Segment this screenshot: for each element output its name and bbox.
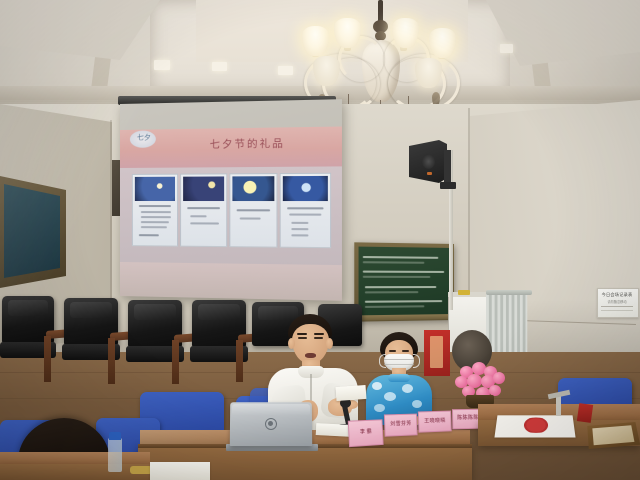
radiator-top-rail <box>486 290 532 295</box>
woman-qipao-collar <box>388 374 410 382</box>
wall-sign-title: 今日会场记录表 <box>600 292 634 298</box>
slide-card-3 <box>229 173 277 248</box>
woman-mask-loop-left <box>379 354 386 368</box>
blackboard <box>354 242 454 321</box>
wall-sign-subtitle: 请勿随意移动 <box>602 299 632 304</box>
slide-card-4 <box>280 173 331 248</box>
blackboard-surface <box>359 247 451 318</box>
speaker-mouth <box>305 353 316 358</box>
speaker-ear-right <box>326 338 333 349</box>
speaker-brow-right <box>314 333 324 335</box>
woman-mask-pleat <box>384 359 414 360</box>
speaker-cone-icon <box>422 154 435 169</box>
flower-arrangement <box>452 362 508 406</box>
name-placard-1-label: 李 霸 <box>360 430 372 436</box>
blackboard-chalk-tray <box>356 314 452 321</box>
black-chair-2-headrest <box>70 302 112 318</box>
recessed-light-2 <box>212 62 227 71</box>
whiteboard-magnet-clip <box>458 290 470 295</box>
recessed-light-1 <box>154 60 170 70</box>
qipao-floral-3 <box>402 384 413 393</box>
qipao-floral-4 <box>412 400 422 408</box>
slide-card-3-image <box>232 176 274 201</box>
laptop-logo-dot <box>268 421 273 426</box>
speaker-eye-right <box>314 337 323 339</box>
paper-sheet-1[interactable] <box>336 385 367 401</box>
name-placard-3-label: 王晓晓晓 <box>424 419 446 425</box>
speaker-mount-arm <box>444 150 451 186</box>
speaker-eye-left <box>298 337 307 339</box>
small-gold-object[interactable] <box>130 466 152 474</box>
slide-card-4-image <box>283 176 328 201</box>
qipao-floral-1 <box>372 382 382 390</box>
water-bottle[interactable] <box>108 438 122 472</box>
qipao-floral-2 <box>384 392 396 401</box>
red-envelope[interactable] <box>577 403 593 423</box>
name-placard-3[interactable]: 王晓晓晓 <box>418 411 452 433</box>
speaker-brow-left <box>297 333 307 335</box>
left-table-front <box>0 464 150 480</box>
photograph-scene: 七夕 七夕节的礼品 <box>0 0 640 480</box>
woman-eye-right <box>402 350 409 352</box>
name-placard-2[interactable]: 刘雪芬芳 <box>384 414 418 437</box>
laptop-lid-highlight <box>232 404 310 416</box>
woman-eye-left <box>389 350 396 352</box>
black-chair-3-headrest <box>134 304 176 320</box>
name-placard-4-label: 陈陈陈陈 <box>457 416 479 422</box>
name-placard-1[interactable]: 李 霸 <box>348 419 384 447</box>
screen-glare <box>0 104 214 296</box>
speaker-brand-badge <box>427 172 432 175</box>
red-banner-text <box>430 336 443 368</box>
easel-stand <box>556 396 561 416</box>
speaker-bracket <box>440 182 456 189</box>
paper-cut-pattern <box>515 418 556 433</box>
speaker-ear-left <box>288 338 295 349</box>
paper-sheet-3[interactable] <box>150 462 210 480</box>
woman-mask-loop-right <box>413 354 420 368</box>
woman-mask-pleat-2 <box>384 364 414 365</box>
speaker-face <box>292 324 329 364</box>
recessed-light-3 <box>278 66 293 75</box>
black-chair-1-headrest <box>8 300 48 316</box>
framed-artwork-canvas <box>592 425 634 445</box>
name-placard-2-label: 刘雪芬芳 <box>390 422 411 428</box>
recessed-light-4 <box>500 44 513 53</box>
chandelier-bulb-1 <box>302 26 329 56</box>
qipao-floral-5 <box>374 404 385 412</box>
paper-sheet-2[interactable] <box>316 423 353 437</box>
water-bottle-cap <box>109 432 121 440</box>
black-chair-4-headrest <box>198 304 240 320</box>
chandelier-bulb-4 <box>429 28 456 58</box>
